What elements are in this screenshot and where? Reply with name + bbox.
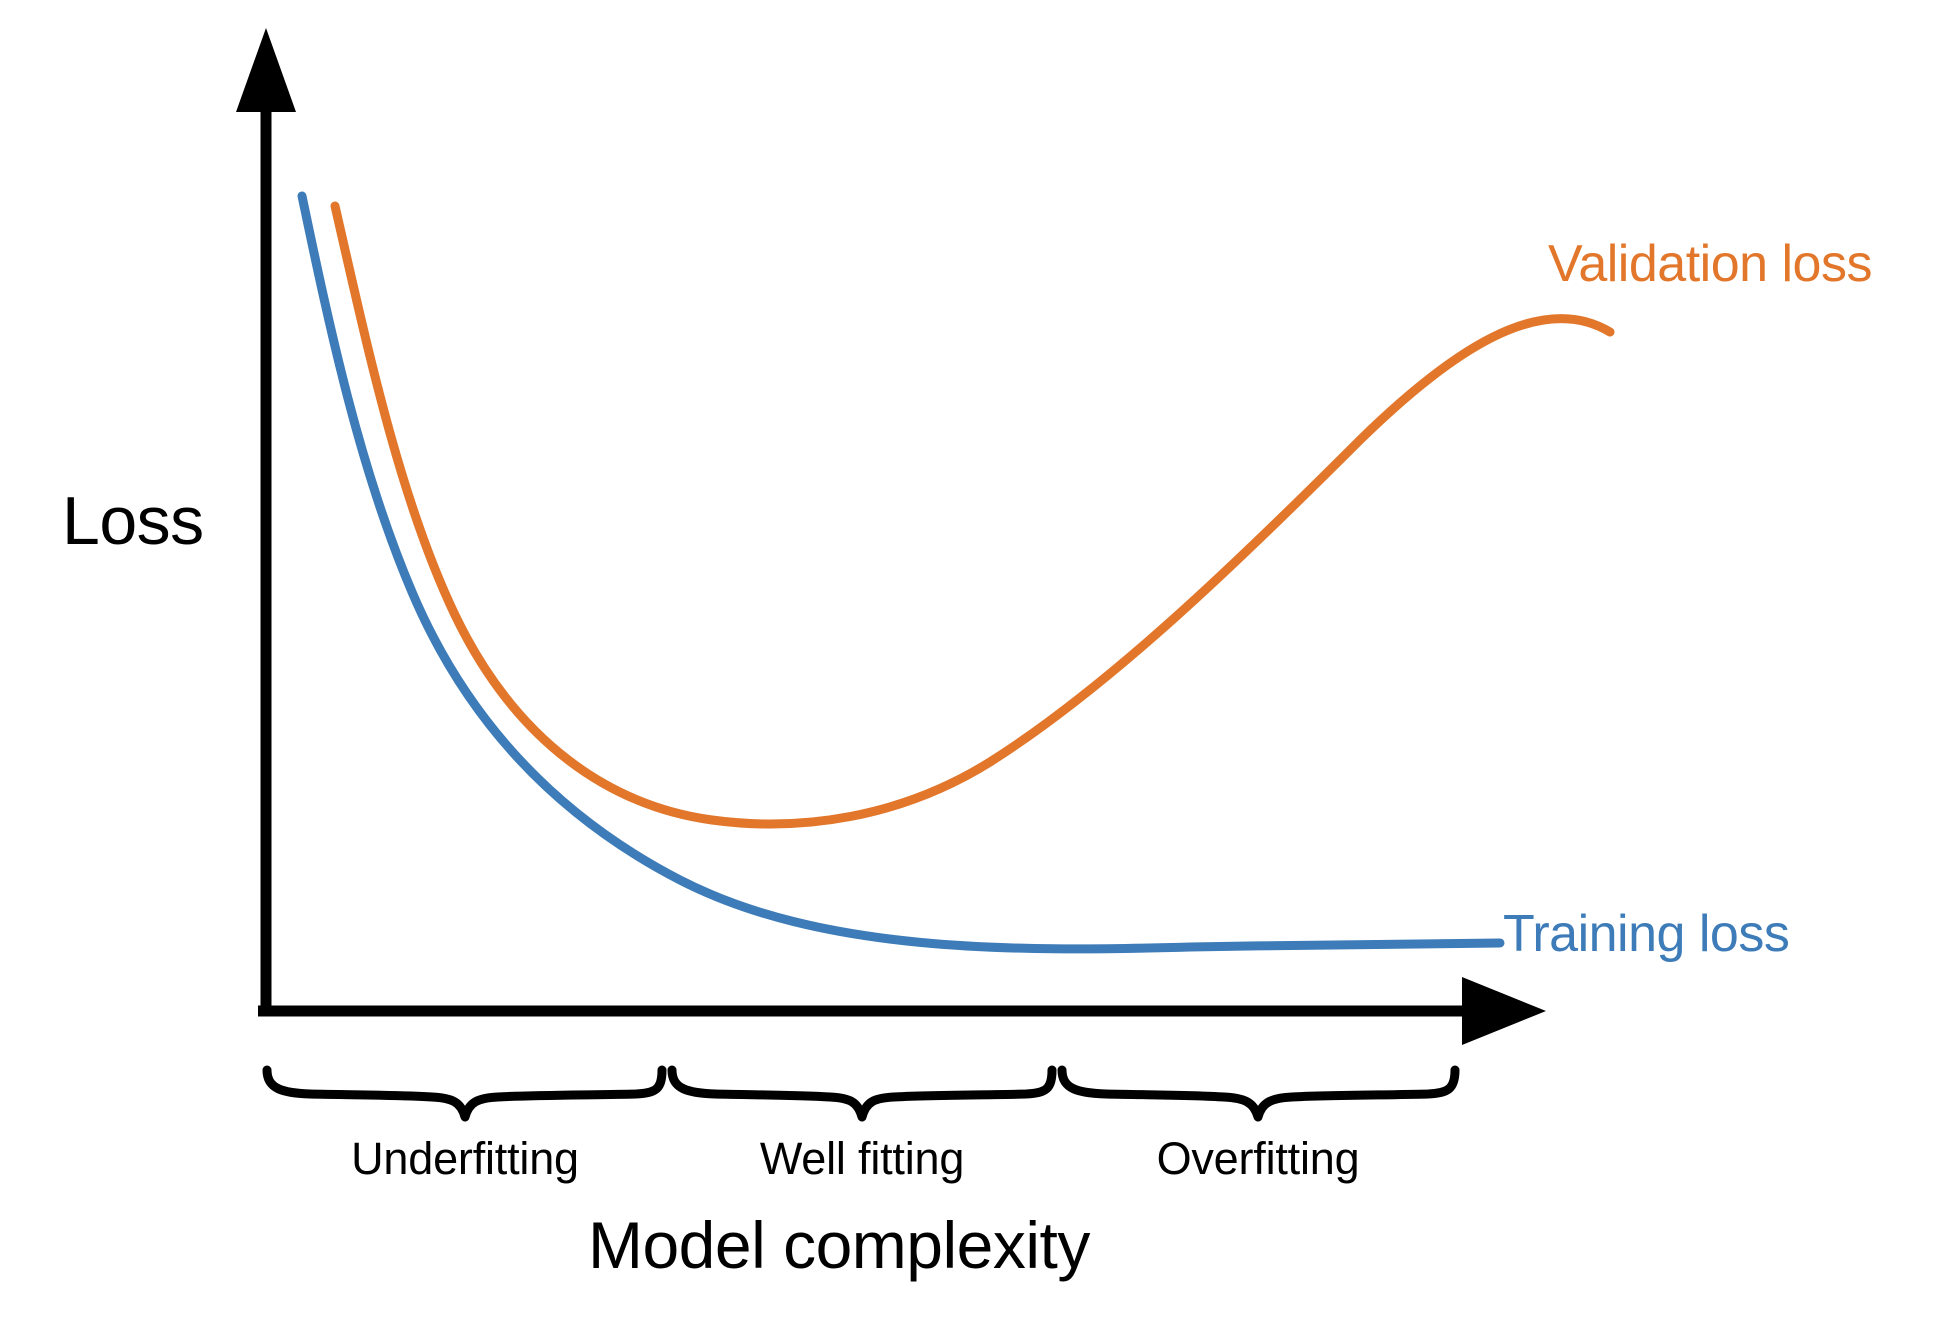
x-axis-label: Model complexity	[588, 1212, 1090, 1278]
training-loss-label: Training loss	[1503, 908, 1789, 960]
region-label-underfitting: Underfitting	[351, 1136, 579, 1181]
brace-well-fitting	[672, 1070, 1052, 1117]
region-label-overfitting: Overfitting	[1157, 1136, 1360, 1181]
loss-vs-model-complexity-figure: Loss Model complexity Validation loss Tr…	[0, 0, 1946, 1322]
region-label-well-fitting: Well fitting	[760, 1136, 964, 1181]
validation-loss-label: Validation loss	[1548, 238, 1872, 290]
brace-underfitting	[267, 1070, 662, 1117]
brace-overfitting	[1062, 1070, 1455, 1117]
braces-overlay	[0, 0, 1946, 1322]
y-axis-label: Loss	[62, 487, 204, 555]
